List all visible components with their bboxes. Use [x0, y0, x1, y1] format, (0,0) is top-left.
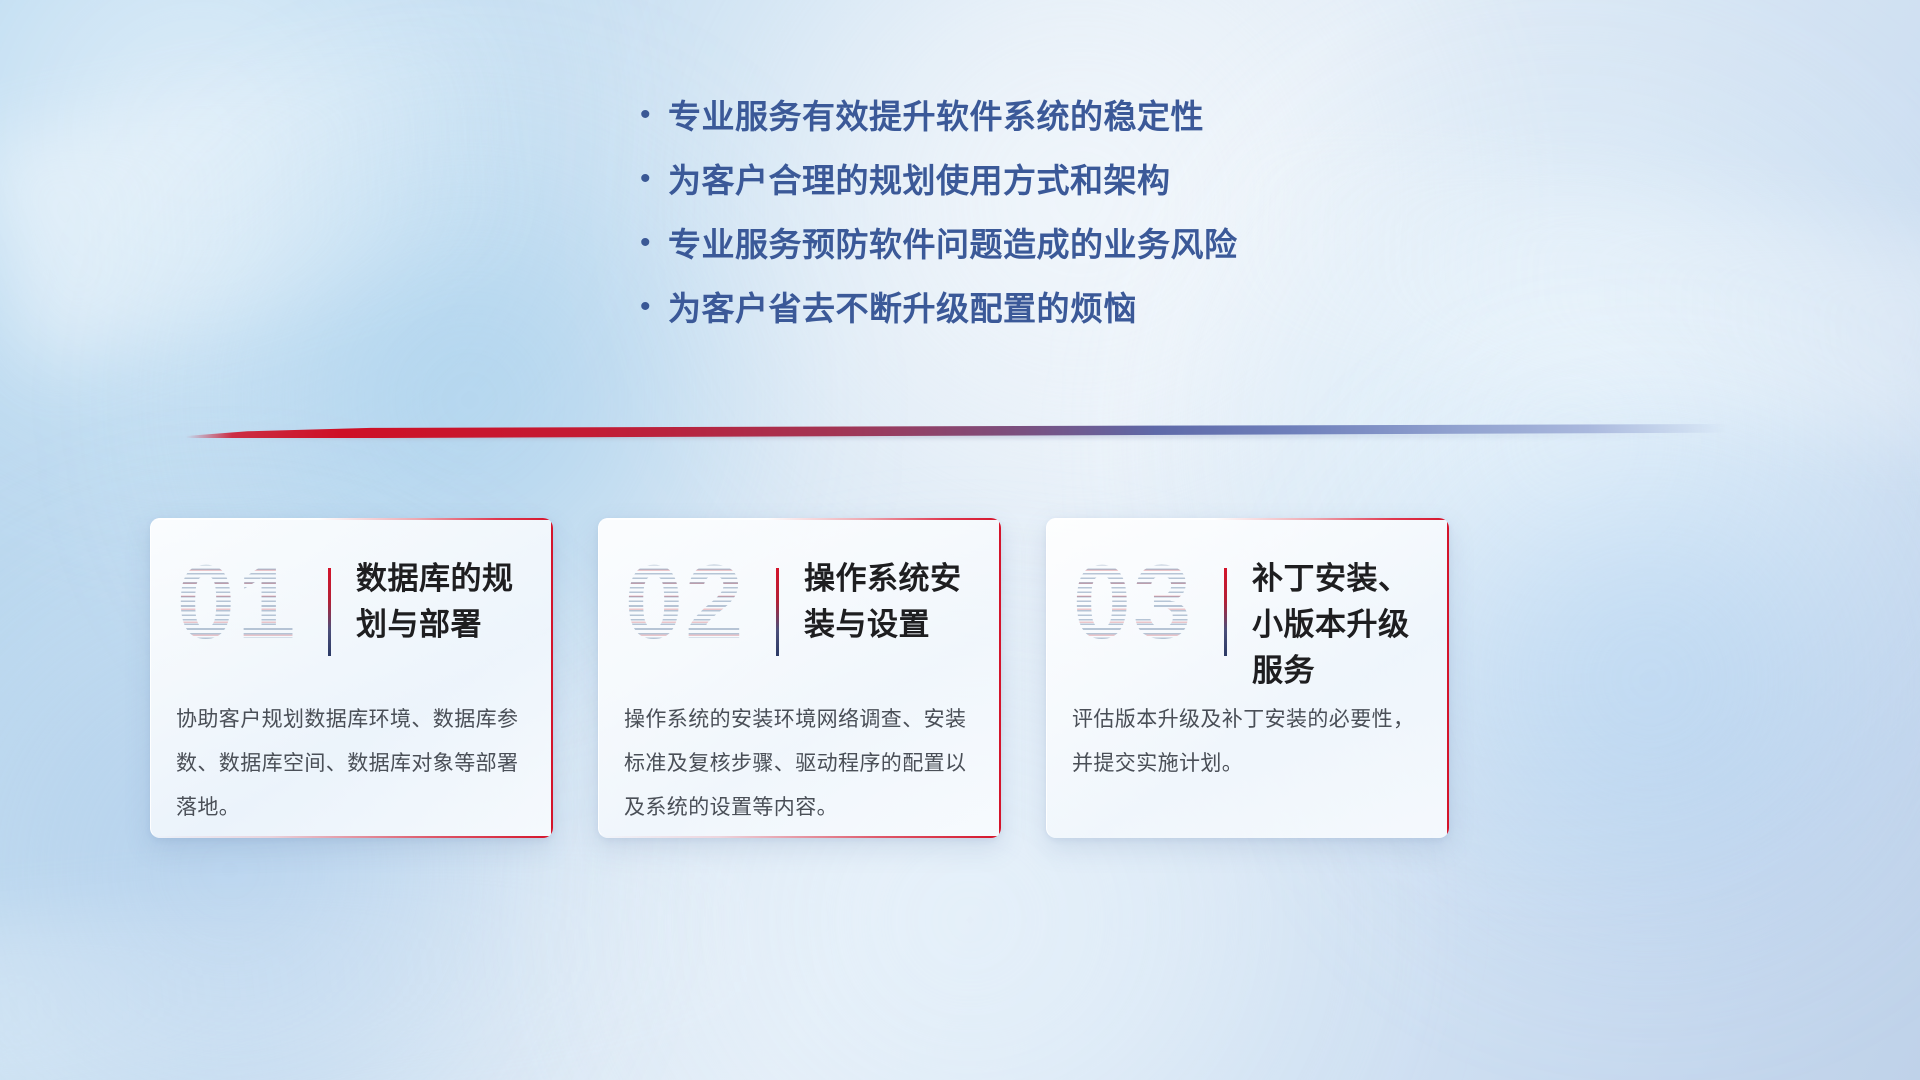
feature-card-02[interactable]: 02 02 操作系统安装与设置 操作系统的安装环境网络调查、安装标准及复核步骤、…: [598, 518, 1001, 838]
bullet-text: 为客户合理的规划使用方式和架构: [668, 154, 1171, 202]
feature-card-01[interactable]: 01 01 数据库的规划与部署 协助客户规划数据库环境、数据库参数、数据库空间、…: [150, 518, 553, 838]
card-number-tint: 02: [620, 544, 750, 662]
card-title: 操作系统安装与设置: [804, 556, 990, 648]
bullet-text: 为客户省去不断升级配置的烦恼: [668, 282, 1137, 330]
card-top-accent: [150, 518, 553, 520]
bullet-item: • 专业服务有效提升软件系统的稳定性: [640, 90, 1280, 154]
bullet-text: 专业服务预防软件问题造成的业务风险: [668, 218, 1238, 266]
card-body-text: 评估版本升级及补丁安装的必要性，并提交实施计划。: [1072, 698, 1428, 786]
card-row: 01 01 数据库的规划与部署 协助客户规划数据库环境、数据库参数、数据库空间、…: [150, 518, 1770, 838]
card-divider-bar: [776, 568, 779, 656]
card-bottom-accent: [150, 836, 553, 838]
bullet-list: • 专业服务有效提升软件系统的稳定性 • 为客户合理的规划使用方式和架构 • 专…: [0, 90, 1920, 346]
bullet-item: • 专业服务预防软件问题造成的业务风险: [640, 218, 1280, 282]
card-number-tint: 03: [1068, 544, 1198, 662]
card-title: 补丁安装、小版本升级服务: [1252, 556, 1438, 694]
card-bottom-accent: [598, 836, 1001, 838]
bullet-marker-icon: •: [640, 164, 668, 194]
card-title: 数据库的规划与部署: [356, 556, 542, 648]
card-divider-bar: [1224, 568, 1227, 656]
feature-card-03[interactable]: 03 03 补丁安装、小版本升级服务 评估版本升级及补丁安装的必要性，并提交实施…: [1046, 518, 1449, 838]
bullet-marker-icon: •: [640, 292, 668, 322]
card-top-accent: [598, 518, 1001, 520]
card-header: 01 01 数据库的规划与部署: [150, 538, 553, 670]
bullet-text: 专业服务有效提升软件系统的稳定性: [668, 90, 1204, 138]
bullet-marker-icon: •: [640, 100, 668, 130]
bullet-marker-icon: •: [640, 228, 668, 258]
card-divider-bar: [328, 568, 331, 656]
card-header: 03 03 补丁安装、小版本升级服务: [1046, 538, 1449, 670]
card-body-text: 操作系统的安装环境网络调查、安装标准及复核步骤、驱动程序的配置以及系统的设置等内…: [624, 698, 980, 830]
card-body-text: 协助客户规划数据库环境、数据库参数、数据库空间、数据库对象等部署落地。: [176, 698, 532, 830]
bullet-item: • 为客户省去不断升级配置的烦恼: [640, 282, 1280, 346]
card-number-tint: 01: [172, 544, 302, 662]
bullet-item: • 为客户合理的规划使用方式和架构: [640, 154, 1280, 218]
card-top-accent: [1046, 518, 1449, 520]
card-header: 02 02 操作系统安装与设置: [598, 538, 1001, 670]
